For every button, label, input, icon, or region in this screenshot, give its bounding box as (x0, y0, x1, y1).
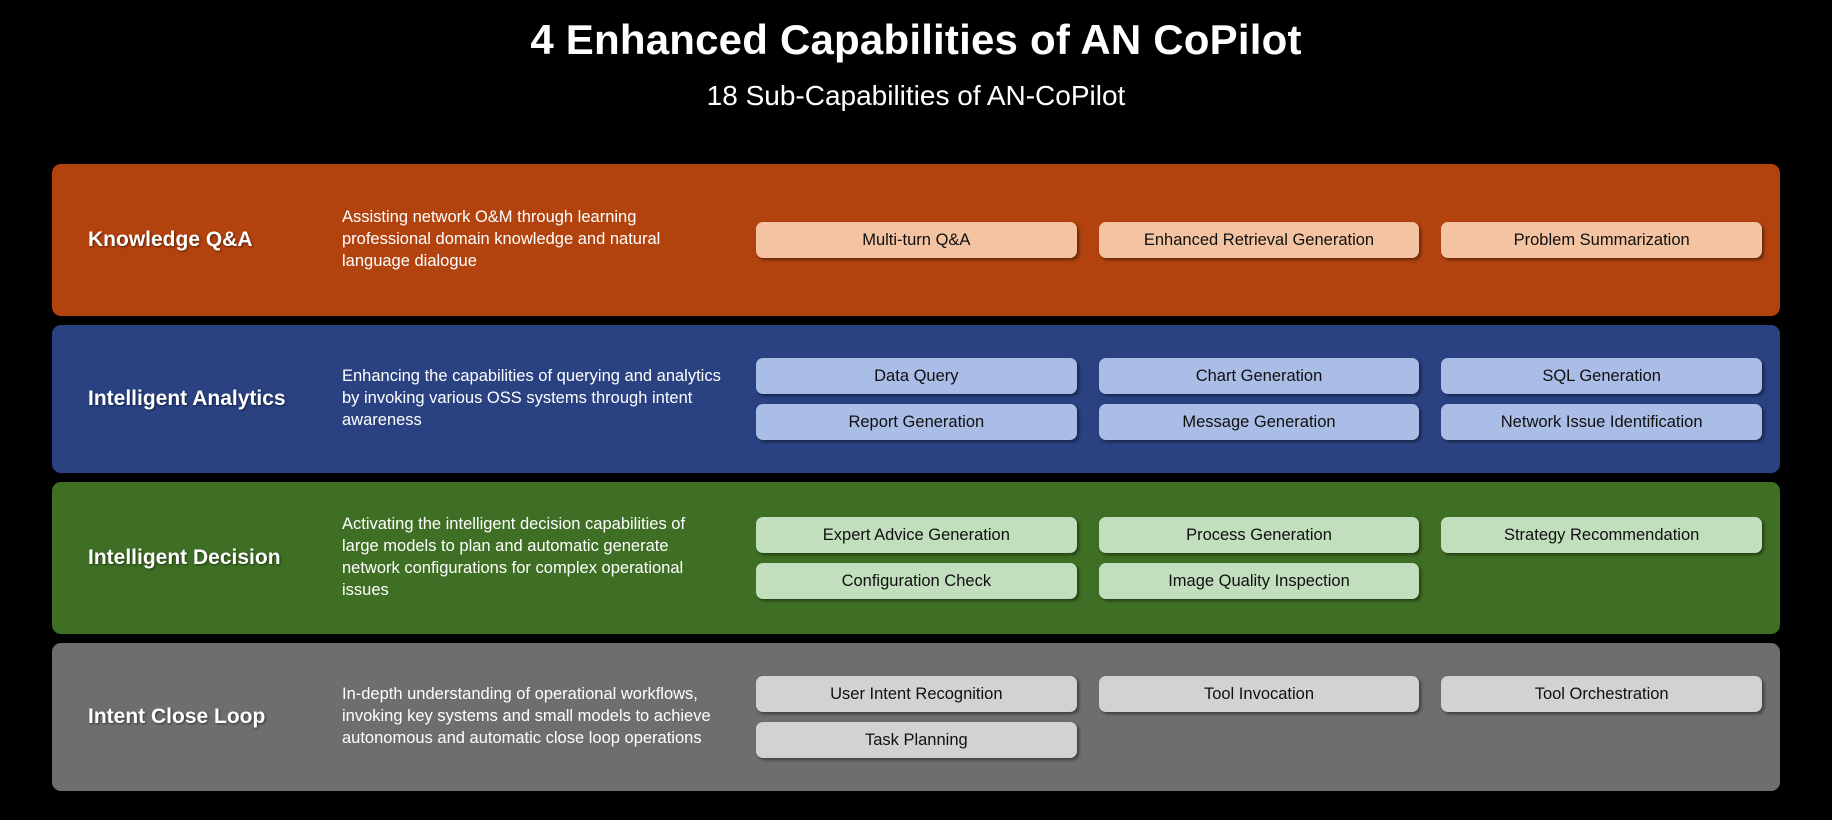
sub-capability-pill[interactable]: Enhanced Retrieval Generation (1099, 222, 1420, 258)
sub-capability-pill[interactable]: Image Quality Inspection (1099, 563, 1420, 599)
sub-capability-pill[interactable]: Process Generation (1099, 517, 1420, 553)
sub-capability-pill[interactable]: Task Planning (756, 722, 1077, 758)
page-title: 4 Enhanced Capabilities of AN CoPilot (0, 0, 1832, 64)
sub-capability-pill[interactable]: Configuration Check (756, 563, 1077, 599)
band-label: Knowledge Q&A (74, 228, 342, 252)
sub-capability-pill[interactable]: Problem Summarization (1441, 222, 1762, 258)
slide-canvas: 4 Enhanced Capabilities of AN CoPilot 18… (0, 0, 1832, 820)
sub-capability-pill[interactable]: Chart Generation (1099, 358, 1420, 394)
band-description: Activating the intelligent decision capa… (342, 514, 742, 601)
sub-capability-pill[interactable]: User Intent Recognition (756, 676, 1077, 712)
capability-band-intelligent-decision: Intelligent Decision Activating the inte… (52, 482, 1780, 634)
capability-band-intelligent-analytics: Intelligent Analytics Enhancing the capa… (52, 325, 1780, 473)
sub-capability-pill[interactable]: Report Generation (756, 404, 1077, 440)
sub-capability-pill[interactable]: Tool Invocation (1099, 676, 1420, 712)
sub-capability-grid: Data Query Chart Generation SQL Generati… (742, 358, 1762, 440)
sub-capability-pill[interactable]: Strategy Recommendation (1441, 517, 1762, 553)
sub-capability-pill[interactable]: Message Generation (1099, 404, 1420, 440)
sub-capability-grid: Multi-turn Q&A Enhanced Retrieval Genera… (742, 222, 1762, 258)
band-description: Assisting network O&M through learning p… (342, 207, 742, 272)
band-label: Intent Close Loop (74, 705, 342, 729)
capability-band-intent-close-loop: Intent Close Loop In-depth understanding… (52, 643, 1780, 791)
capability-band-knowledge-qa: Knowledge Q&A Assisting network O&M thro… (52, 164, 1780, 316)
sub-capability-pill[interactable]: Network Issue Identification (1441, 404, 1762, 440)
grid-spacer (1099, 722, 1420, 758)
sub-capability-pill[interactable]: Multi-turn Q&A (756, 222, 1077, 258)
band-label: Intelligent Analytics (74, 387, 342, 411)
capability-rows: Knowledge Q&A Assisting network O&M thro… (52, 164, 1780, 800)
sub-capability-pill[interactable]: Tool Orchestration (1441, 676, 1762, 712)
band-label: Intelligent Decision (74, 546, 342, 570)
grid-spacer (1441, 563, 1762, 599)
grid-spacer (1441, 722, 1762, 758)
band-description: Enhancing the capabilities of querying a… (342, 366, 742, 431)
sub-capability-grid: User Intent Recognition Tool Invocation … (742, 676, 1762, 758)
page-subtitle: 18 Sub-Capabilities of AN-CoPilot (0, 64, 1832, 112)
sub-capability-grid: Expert Advice Generation Process Generat… (742, 517, 1762, 599)
sub-capability-pill[interactable]: Data Query (756, 358, 1077, 394)
sub-capability-pill[interactable]: Expert Advice Generation (756, 517, 1077, 553)
sub-capability-pill[interactable]: SQL Generation (1441, 358, 1762, 394)
band-description: In-depth understanding of operational wo… (342, 684, 742, 749)
